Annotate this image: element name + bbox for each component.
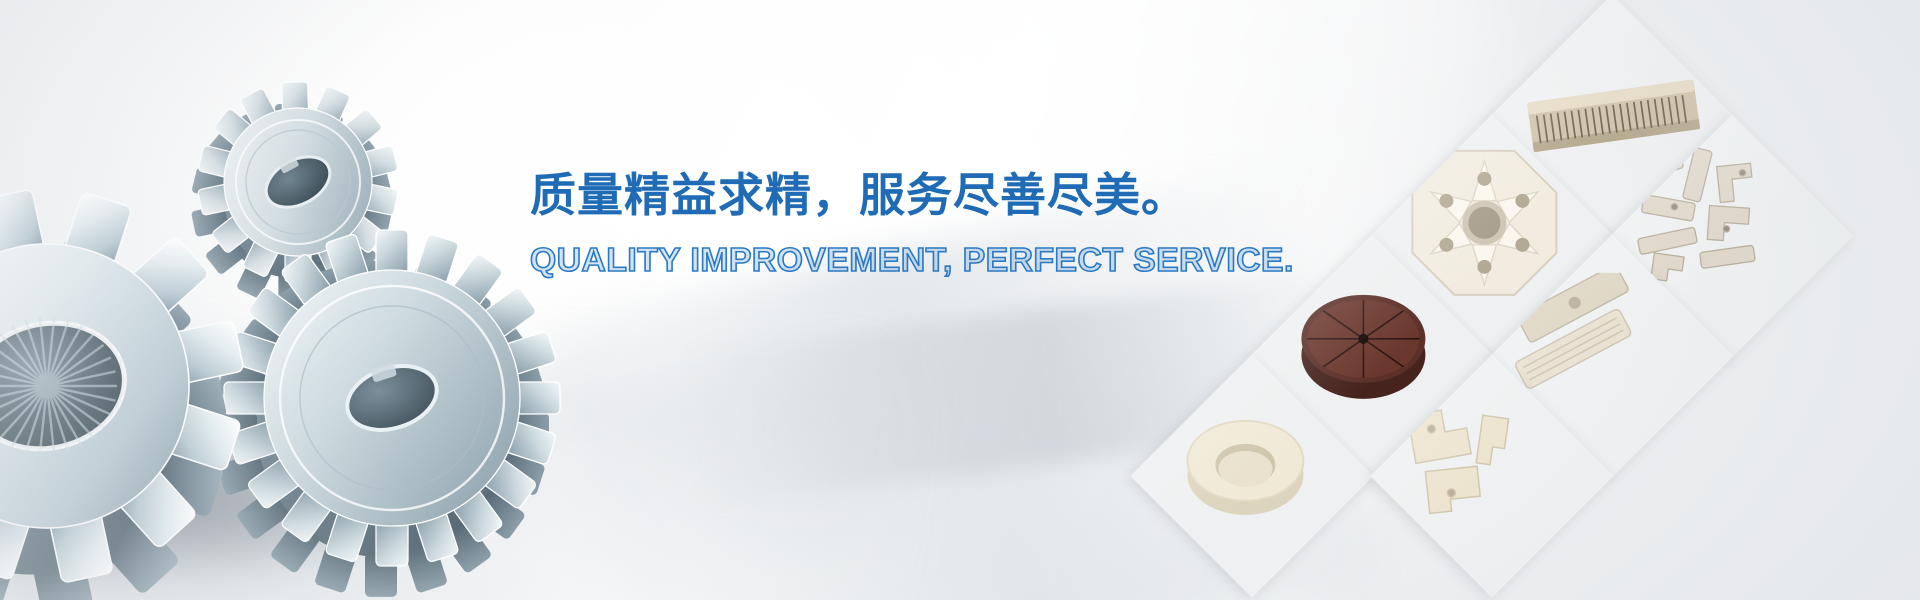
banner-headline: 质量精益求精，服务尽善尽美。 (530, 170, 1250, 221)
banner-copy: 质量精益求精，服务尽善尽美。 QUALITY IMPROVEMENT, PERF… (530, 170, 1250, 276)
hero-banner: 质量精益求精，服务尽善尽美。 QUALITY IMPROVEMENT, PERF… (0, 0, 1920, 600)
product-collage (1280, 0, 1920, 600)
gear-front-large-icon (0, 148, 282, 600)
gear-cluster-graphic (0, 40, 590, 600)
banner-subheadline: QUALITY IMPROVEMENT, PERFECT SERVICE. (530, 243, 1264, 276)
